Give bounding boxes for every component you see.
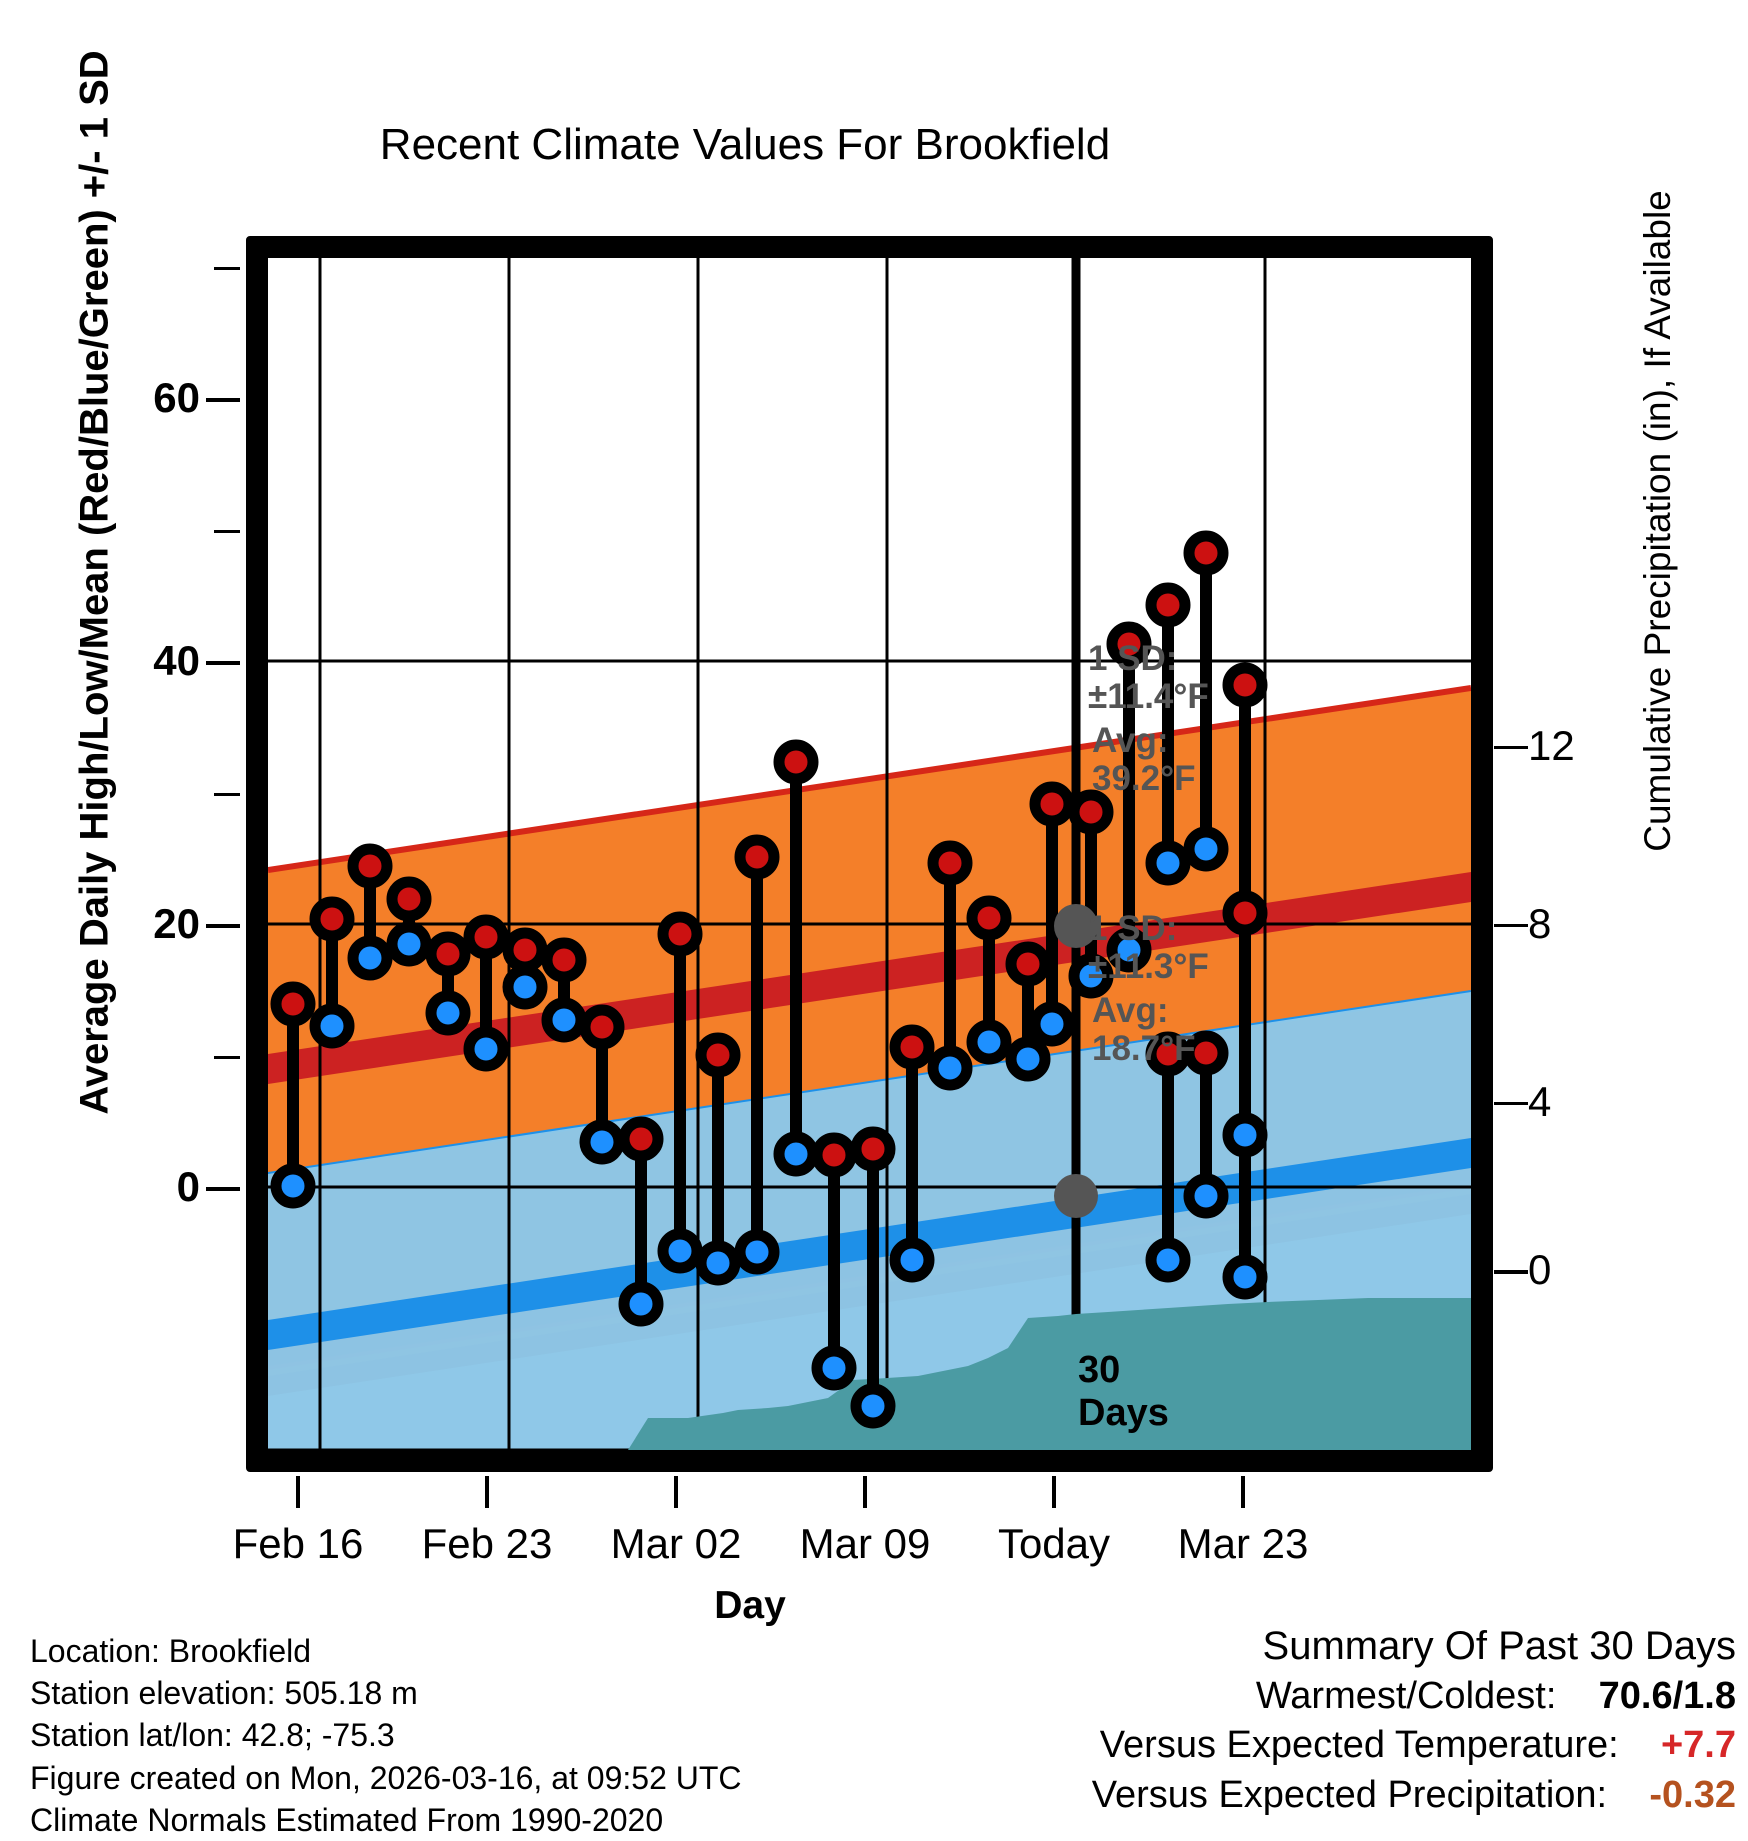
y2-tick-label-0: 0 bbox=[1528, 1246, 1648, 1294]
y-tick-mark-50 bbox=[214, 530, 240, 533]
high-sd-annotation-label: 1 SD: bbox=[1088, 640, 1177, 678]
y-tick-mark-30 bbox=[214, 793, 240, 796]
y2-tick-mark-12 bbox=[1494, 746, 1528, 749]
low-avg-annotation-label: Avg: bbox=[1092, 992, 1168, 1030]
station-latlon: Station lat/lon: 42.8; -75.3 bbox=[30, 1714, 742, 1756]
summary-vs-temperature: Versus Expected Temperature: +7.7 bbox=[1092, 1721, 1736, 1770]
high-avg-annotation-label: Avg: bbox=[1092, 722, 1168, 760]
low-sd-annotation-label: 1 SD: bbox=[1088, 910, 1177, 948]
x-axis-label: Day bbox=[600, 1584, 900, 1628]
y-tick-mark-70 bbox=[214, 267, 240, 270]
x-tick-mark-today bbox=[1052, 1476, 1056, 1508]
figure-created: Figure created on Mon, 2026-03-16, at 09… bbox=[30, 1757, 742, 1799]
climate-normals-period: Climate Normals Estimated From 1990-2020 bbox=[30, 1799, 742, 1841]
summary-title: Summary Of Past 30 Days bbox=[1092, 1620, 1736, 1672]
high-avg-annotation-value: 39.2°F bbox=[1092, 760, 1196, 798]
precip-window-label-line2: Days bbox=[1078, 1393, 1169, 1435]
y-tick-label-0: 0 bbox=[80, 1163, 200, 1211]
x-tick-mark-feb-23 bbox=[485, 1476, 489, 1508]
y-tick-label-40: 40 bbox=[80, 637, 200, 685]
station-info-block: Location: Brookfield Station elevation: … bbox=[30, 1630, 742, 1841]
page-title: Recent Climate Values For Brookfield bbox=[0, 120, 1490, 170]
summary-warmest-coldest: Warmest/Coldest: 70.6/1.8 bbox=[1092, 1672, 1736, 1721]
high-sd-annotation-value: ±11.4°F bbox=[1088, 678, 1209, 716]
low-avg-annotation-value: 18.7°F bbox=[1092, 1030, 1196, 1068]
station-location: Location: Brookfield bbox=[30, 1630, 742, 1672]
summary-block: Summary Of Past 30 Days Warmest/Coldest:… bbox=[1092, 1620, 1736, 1820]
y2-tick-mark-4 bbox=[1494, 1102, 1528, 1105]
y-tick-label-60: 60 bbox=[80, 374, 200, 422]
precip-window-label-line1: 30 bbox=[1078, 1350, 1120, 1392]
y2-tick-label-12: 12 bbox=[1528, 722, 1648, 770]
x-tick-mark-mar-02 bbox=[674, 1476, 678, 1508]
x-tick-mark-mar-23 bbox=[1241, 1476, 1245, 1508]
y-axis-left-label: Average Daily High/Low/Mean (Red/Blue/Gr… bbox=[73, 33, 118, 1133]
summary-vs-precipitation: Versus Expected Precipitation: -0.32 bbox=[1092, 1771, 1736, 1820]
y-tick-mark-10 bbox=[214, 1056, 240, 1059]
y2-tick-label-8: 8 bbox=[1528, 900, 1648, 948]
x-tick-label-today: Today bbox=[944, 1520, 1164, 1568]
x-tick-mark-feb-16 bbox=[296, 1476, 300, 1508]
x-tick-label-feb-16: Feb 16 bbox=[188, 1520, 408, 1568]
plot-area[interactable] bbox=[268, 258, 1471, 1450]
y-tick-label-20: 20 bbox=[80, 900, 200, 948]
y2-tick-mark-0 bbox=[1494, 1270, 1528, 1274]
x-tick-label-mar-09: Mar 09 bbox=[755, 1520, 975, 1568]
y2-tick-label-4: 4 bbox=[1528, 1078, 1648, 1126]
warmest-coldest-value: 70.6/1.8 bbox=[1599, 1675, 1736, 1717]
warmest-coldest-label: Warmest/Coldest: bbox=[1256, 1675, 1557, 1717]
x-tick-label-mar-02: Mar 02 bbox=[566, 1520, 786, 1568]
y2-tick-mark-8 bbox=[1494, 924, 1528, 927]
today-low-avg-marker bbox=[1054, 1174, 1098, 1218]
y-tick-mark-40 bbox=[206, 661, 240, 665]
low-sd-annotation-value: ±11.3°F bbox=[1088, 948, 1209, 986]
y-tick-mark-0 bbox=[206, 1187, 240, 1191]
vs-precipitation-label: Versus Expected Precipitation: bbox=[1092, 1774, 1607, 1816]
y-tick-mark-60 bbox=[206, 398, 240, 402]
climate-chart-svg bbox=[268, 258, 1471, 1450]
vs-precipitation-value: -0.32 bbox=[1649, 1774, 1736, 1816]
x-tick-mark-mar-09 bbox=[863, 1476, 867, 1508]
station-elevation: Station elevation: 505.18 m bbox=[30, 1672, 742, 1714]
vs-temperature-label: Versus Expected Temperature: bbox=[1100, 1724, 1619, 1766]
vs-temperature-value: +7.7 bbox=[1661, 1724, 1736, 1766]
x-tick-label-mar-23: Mar 23 bbox=[1133, 1520, 1353, 1568]
y-tick-mark-20 bbox=[206, 924, 240, 928]
x-tick-label-feb-23: Feb 23 bbox=[377, 1520, 597, 1568]
